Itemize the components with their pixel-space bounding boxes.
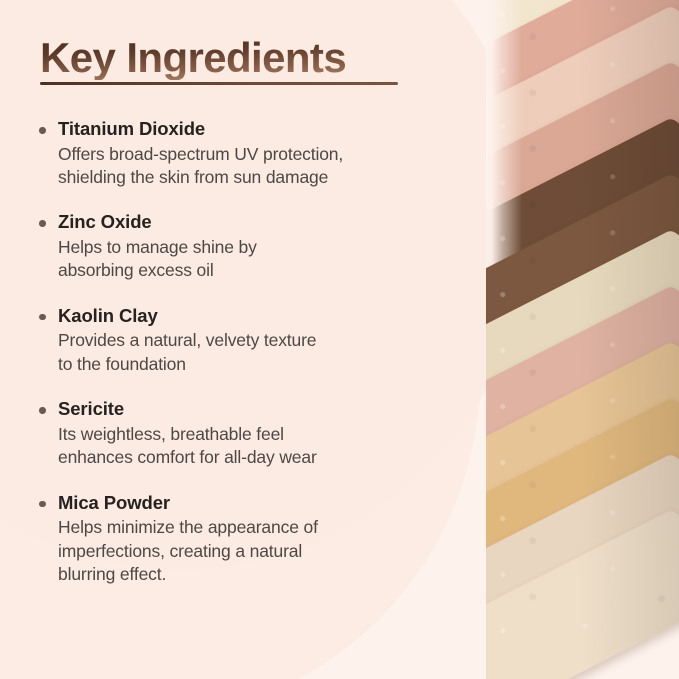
page-title: Key Ingredients [40,36,398,80]
powder-swatch-panel [486,0,679,679]
ingredient-description: Helps minimize the appearance of imperfe… [58,516,438,586]
title-underline [40,82,398,85]
bullet-icon [39,220,46,227]
bullet-icon [39,407,46,414]
ingredient-item: Kaolin ClayProvides a natural, velvety t… [38,305,438,376]
ingredient-name: Titanium Dioxide [58,118,438,141]
ingredient-item: Titanium DioxideOffers broad-spectrum UV… [38,118,438,189]
ingredient-name: Kaolin Clay [58,305,438,328]
ingredient-item: Mica PowderHelps minimize the appearance… [38,492,438,587]
bullet-icon [39,127,46,134]
ingredient-list: Titanium DioxideOffers broad-spectrum UV… [38,118,438,587]
ingredient-description: Provides a natural, velvety texture to t… [58,329,438,376]
page-title-block: Key Ingredients [40,36,398,85]
ingredient-description: Offers broad-spectrum UV protection, shi… [58,143,438,190]
ingredients-infographic: Key Ingredients Titanium DioxideOffers b… [0,0,679,679]
ingredient-item: Zinc OxideHelps to manage shine by absor… [38,211,438,282]
ingredient-name: Mica Powder [58,492,438,515]
bullet-icon [39,314,46,321]
ingredient-item: SericiteIts weightless, breathable feel … [38,398,438,469]
ingredient-description: Helps to manage shine by absorbing exces… [58,236,438,283]
ingredient-name: Zinc Oxide [58,211,438,234]
bullet-icon [39,501,46,508]
ingredient-description: Its weightless, breathable feel enhances… [58,423,438,470]
ingredient-name: Sericite [58,398,438,421]
